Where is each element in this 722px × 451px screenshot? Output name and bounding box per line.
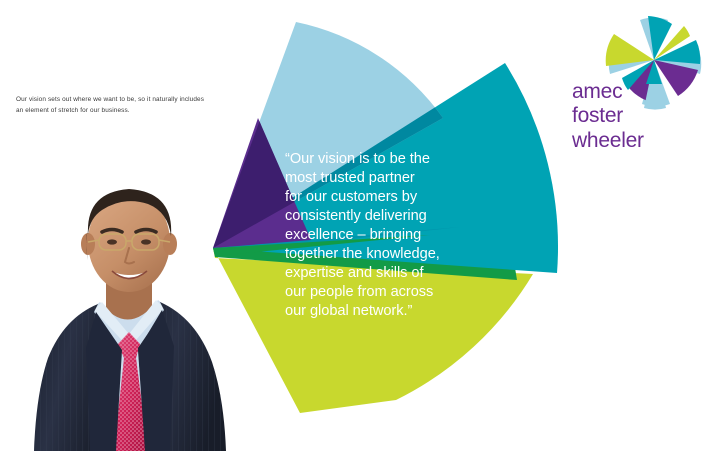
vision-caption-text: Our vision sets out where we want to be,…: [16, 94, 206, 116]
vision-quote-text: “Our vision is to be the most trusted pa…: [285, 150, 515, 321]
portrait-ear-left: [81, 233, 95, 255]
poster-page: “Our vision is to be the most trusted pa…: [0, 0, 722, 451]
portrait-ear-right: [163, 233, 177, 255]
executive-portrait-photo: [28, 172, 228, 451]
portrait-eye-left: [107, 239, 117, 244]
logo-wordmark-text: amec foster wheeler: [572, 80, 644, 153]
portrait-eye-right: [141, 239, 151, 244]
company-logo: amec foster wheeler: [566, 12, 706, 147]
